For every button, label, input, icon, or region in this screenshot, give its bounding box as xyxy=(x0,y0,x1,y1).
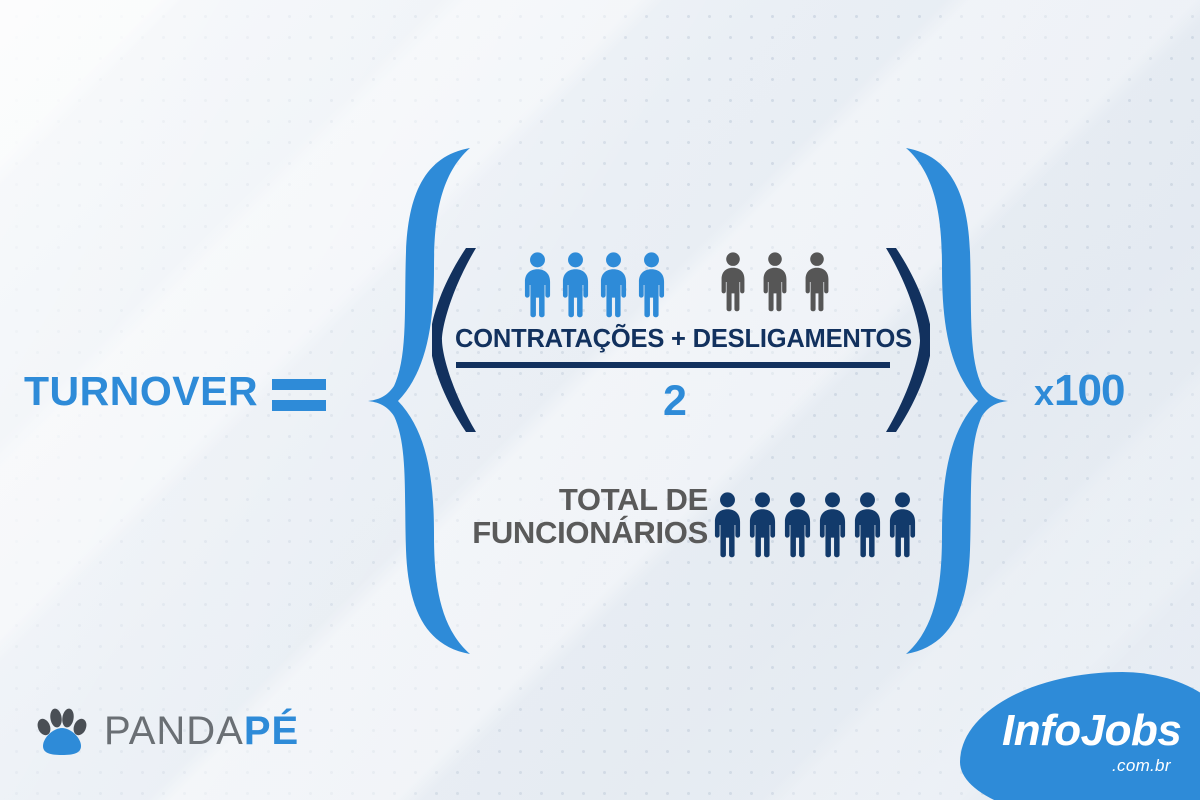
person-icon-navy xyxy=(852,492,883,558)
turnover-formula-infographic: TURNOVER CONTRATAÇÕES + DESLIGAMENTOS 2 … xyxy=(0,0,1200,800)
numerator-label: CONTRATAÇÕES + DESLIGAMENTOS xyxy=(455,325,895,354)
equals-bar-top xyxy=(272,379,326,390)
pandape-word-pe: PÉ xyxy=(244,709,299,753)
person-icon-gray xyxy=(802,252,832,312)
multiplier: x100 xyxy=(1034,366,1124,416)
equals-bar-bottom xyxy=(272,400,326,411)
person-icon-gray xyxy=(760,252,790,312)
total-employees-label-line1: TOTAL DE xyxy=(408,484,708,517)
person-icon-navy xyxy=(817,492,848,558)
pandape-word-panda: PANDA xyxy=(104,709,244,753)
paw-print-icon xyxy=(36,706,88,756)
person-icon-navy xyxy=(747,492,778,558)
infojobs-logo[interactable]: InfoJobs .com.br xyxy=(960,672,1200,800)
person-icon-gray xyxy=(718,252,748,312)
multiplier-value: 100 xyxy=(1054,366,1124,415)
hires-people-group xyxy=(521,252,668,318)
person-icon-blue xyxy=(635,252,668,318)
person-icon-blue xyxy=(521,252,554,318)
denominator-value: 2 xyxy=(455,377,895,426)
person-icon-navy xyxy=(712,492,743,558)
infojobs-wordmark: InfoJobs xyxy=(1002,706,1181,756)
infojobs-domain-label: .com.br xyxy=(1112,756,1171,776)
person-icon-blue xyxy=(597,252,630,318)
total-people-group xyxy=(712,492,918,558)
total-employees-label: TOTAL DE FUNCIONÁRIOS xyxy=(408,484,708,549)
person-icon-blue xyxy=(559,252,592,318)
multiplier-operator: x xyxy=(1034,372,1054,413)
pandape-logo[interactable]: PANDAPÉ xyxy=(36,706,299,756)
pandape-wordmark: PANDAPÉ xyxy=(104,709,299,754)
person-icon-navy xyxy=(887,492,918,558)
turnover-label: TURNOVER xyxy=(24,368,258,415)
fraction-bar xyxy=(456,362,890,368)
total-employees-label-line2: FUNCIONÁRIOS xyxy=(408,517,708,550)
fires-people-group xyxy=(718,252,832,312)
person-icon-navy xyxy=(782,492,813,558)
equals-sign-icon xyxy=(272,379,326,411)
